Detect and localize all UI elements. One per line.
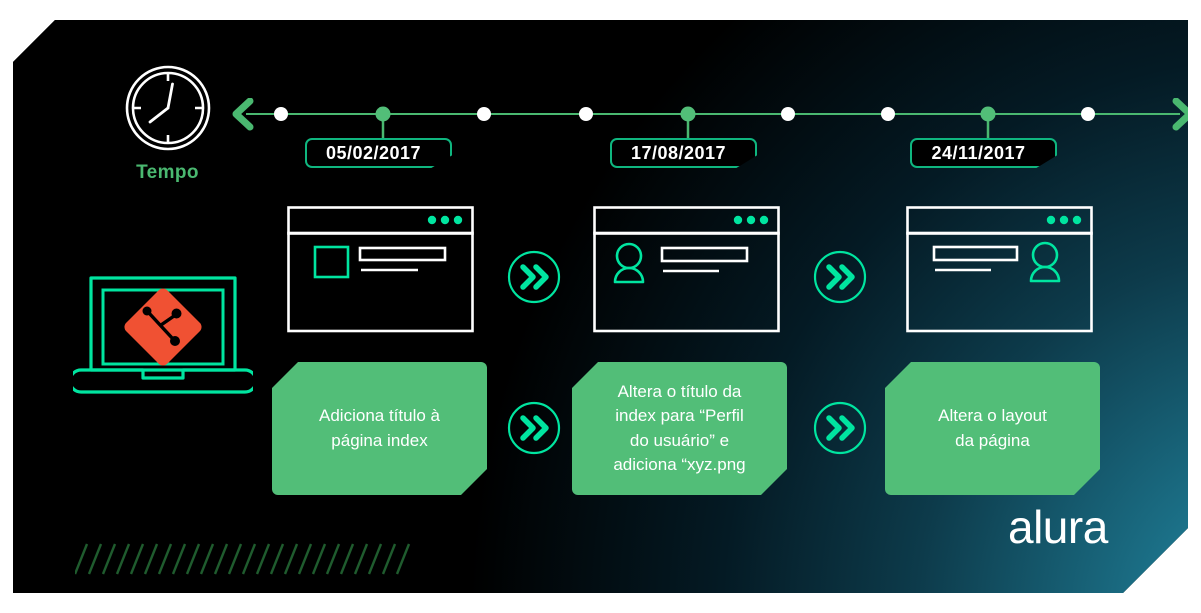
window-dot <box>428 216 436 224</box>
browser-window-3[interactable] <box>906 206 1093 333</box>
window-dot <box>734 216 742 224</box>
date-badge-3[interactable]: 24/11/2017 <box>910 138 1057 168</box>
commit-card-2[interactable]: Altera o título da index para “Perfil do… <box>572 362 787 495</box>
date-badge-1[interactable]: 05/02/2017 <box>305 138 452 168</box>
timeline-dot-active <box>681 107 696 122</box>
commit-card-1[interactable]: Adiciona título à página index <box>272 362 487 495</box>
browser-window-2[interactable] <box>593 206 780 333</box>
window-dot <box>454 216 462 224</box>
time-axis-legend: Tempo <box>105 65 230 184</box>
date-badge-2[interactable]: 17/08/2017 <box>610 138 757 168</box>
window-dot <box>747 216 755 224</box>
browser-window-1[interactable] <box>287 206 474 333</box>
alura-wordmark: alura <box>1008 505 1109 553</box>
window-dot <box>1060 216 1068 224</box>
window-dot <box>1047 216 1055 224</box>
timeline: 05/02/2017 17/08/2017 24/11/2017 <box>228 98 1198 178</box>
infographic-canvas: Tempo 05/02/2017 <box>13 20 1188 593</box>
arrow-bottom-2 <box>813 401 867 455</box>
arrow-top-2 <box>813 250 867 304</box>
timeline-dot <box>781 107 795 121</box>
window-dot <box>760 216 768 224</box>
timeline-dot-active <box>981 107 996 122</box>
heading-bar <box>934 247 1017 260</box>
image-placeholder <box>315 247 348 277</box>
commit-card-text: Altera o layout da página <box>938 404 1047 452</box>
git-logo-icon <box>122 286 204 368</box>
double-chevron-right-icon <box>523 418 546 438</box>
date-label: 24/11/2017 <box>931 143 1025 164</box>
arrow-top-1 <box>507 250 561 304</box>
clock-icon <box>125 65 211 151</box>
timeline-dot <box>274 107 288 121</box>
tempo-label: Tempo <box>105 162 230 184</box>
user-avatar-icon <box>615 244 643 282</box>
timeline-axis <box>228 98 1198 138</box>
commit-card-3[interactable]: Altera o layout da página <box>885 362 1100 495</box>
commit-card-text: Altera o título da index para “Perfil do… <box>613 380 745 477</box>
timeline-dot <box>1081 107 1095 121</box>
timeline-dot <box>881 107 895 121</box>
double-chevron-right-icon <box>523 267 546 287</box>
timeline-dot-active <box>376 107 391 122</box>
window-dot <box>1073 216 1081 224</box>
alura-logo: alura <box>1008 505 1132 558</box>
double-chevron-right-icon <box>829 418 852 438</box>
date-label: 05/02/2017 <box>326 143 421 164</box>
laptop-icon <box>73 272 253 400</box>
heading-bar <box>360 248 445 260</box>
diagonal-stripes <box>75 540 415 578</box>
timeline-dot <box>477 107 491 121</box>
date-label: 17/08/2017 <box>631 143 726 164</box>
heading-bar <box>662 248 747 261</box>
arrow-bottom-1 <box>507 401 561 455</box>
timeline-dot <box>579 107 593 121</box>
window-dot <box>441 216 449 224</box>
commit-card-text: Adiciona título à página index <box>319 404 440 452</box>
user-avatar-icon <box>1031 243 1059 281</box>
double-chevron-right-icon <box>829 267 852 287</box>
